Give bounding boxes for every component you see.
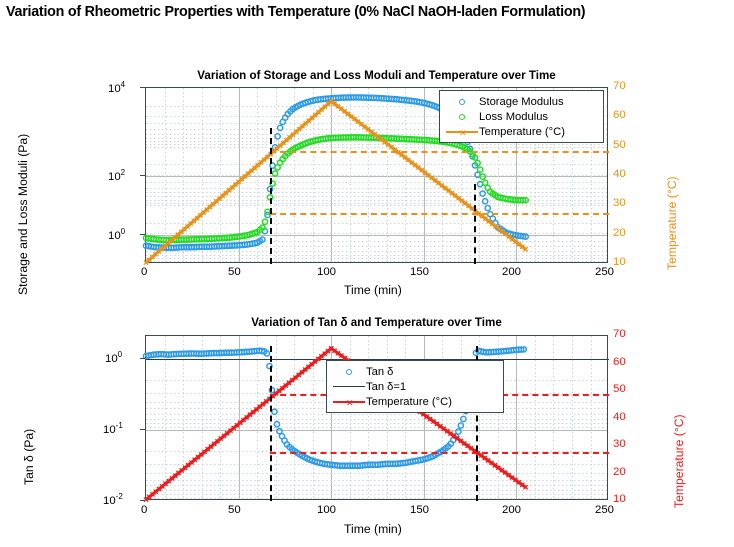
bottom-ytick-left-2: 10-2 xyxy=(103,492,123,507)
open-circle-icon xyxy=(445,114,479,120)
top-ytick-left-2: 104 xyxy=(108,80,125,95)
top-xtick-150: 150 xyxy=(410,266,429,278)
top-ylabel-left: Storage and Loss Moduli (Pa) xyxy=(16,134,30,295)
top-xtick-100: 100 xyxy=(317,266,336,278)
line-x-marker-icon: ✕ xyxy=(445,131,479,133)
top-ytick-right-20: 20 xyxy=(613,227,626,239)
bottom-legend[interactable]: Tan δ Tan δ=1 ✕ Temperature (°C) xyxy=(326,360,504,413)
bottom-ytick-right-50: 50 xyxy=(613,383,626,395)
bottom-ytick-right-70: 70 xyxy=(613,328,626,340)
top-vdash-177 xyxy=(474,184,476,264)
bottom-panel: Variation of Tan δ and Temperature over … xyxy=(0,300,734,547)
bottom-xlabel: Time (min) xyxy=(344,522,402,536)
top-ytick-right-50: 50 xyxy=(613,139,626,151)
top-xtick-0: 0 xyxy=(141,266,147,278)
legend-item-tan-delta[interactable]: Tan δ xyxy=(332,364,497,379)
top-xtick-200: 200 xyxy=(502,266,521,278)
legend-label: Storage Modulus xyxy=(479,96,564,108)
bottom-xtick-250: 250 xyxy=(595,504,614,516)
top-legend[interactable]: Storage Modulus Loss Modulus ✕ Temperatu… xyxy=(439,90,604,143)
legend-item-temperature[interactable]: ✕ Temperature (°C) xyxy=(332,394,497,409)
legend-item-tan-delta-one[interactable]: Tan δ=1 xyxy=(332,379,497,394)
bottom-ytick-left-1: 10-1 xyxy=(103,421,123,436)
bottom-ytick-right-20: 20 xyxy=(613,466,626,478)
solid-line-icon xyxy=(332,386,366,387)
legend-item-loss-modulus[interactable]: Loss Modulus xyxy=(445,109,597,124)
bottom-ylabel-right: Temperature (°C) xyxy=(672,414,686,508)
top-hdash-28c xyxy=(270,213,609,215)
bottom-panel-title: Variation of Tan δ and Temperature over … xyxy=(145,316,608,329)
bottom-xtick-150: 150 xyxy=(410,504,429,516)
top-ytick-right-60: 60 xyxy=(613,109,626,121)
bottom-hdash-28c xyxy=(270,452,609,454)
top-ytick-right-40: 40 xyxy=(613,168,626,180)
open-circle-icon xyxy=(332,369,366,375)
bottom-ytick-right-60: 60 xyxy=(613,356,626,368)
top-hdash-49c xyxy=(270,151,609,153)
open-circle-icon xyxy=(445,99,479,105)
figure-title: Variation of Rheometric Properties with … xyxy=(6,4,730,20)
legend-label: Tan δ=1 xyxy=(366,381,406,393)
top-ytick-right-30: 30 xyxy=(613,197,626,209)
legend-label: Loss Modulus xyxy=(479,111,548,123)
bottom-ytick-right-40: 40 xyxy=(613,411,626,423)
figure-root: Variation of Rheometric Properties with … xyxy=(0,0,734,547)
bottom-xtick-100: 100 xyxy=(317,504,336,516)
legend-item-storage-modulus[interactable]: Storage Modulus xyxy=(445,94,597,109)
bottom-ylabel-left: Tan δ (Pa) xyxy=(22,429,36,485)
legend-label: Temperature (°C) xyxy=(479,126,565,138)
legend-item-temperature[interactable]: ✕ Temperature (°C) xyxy=(445,124,597,139)
bottom-xtick-50: 50 xyxy=(228,504,241,516)
bottom-ytick-right-10: 10 xyxy=(613,493,626,505)
top-ytick-left-1: 102 xyxy=(108,168,125,183)
top-xtick-250: 250 xyxy=(595,266,614,278)
legend-label: Temperature (°C) xyxy=(366,396,452,408)
top-ytick-left-0: 100 xyxy=(108,227,125,242)
top-panel: Variation of Storage and Loss Moduli and… xyxy=(0,55,734,310)
bottom-xtick-0: 0 xyxy=(141,504,147,516)
top-ytick-right-10: 10 xyxy=(613,256,626,268)
top-plot-area: Storage Modulus Loss Modulus ✕ Temperatu… xyxy=(145,87,608,263)
top-panel-title: Variation of Storage and Loss Moduli and… xyxy=(145,69,608,82)
top-xlabel: Time (min) xyxy=(344,283,402,297)
bottom-plot-area: Tan δ Tan δ=1 ✕ Temperature (°C) xyxy=(145,335,608,500)
top-ytick-right-70: 70 xyxy=(613,80,626,92)
bottom-ytick-left-0: 100 xyxy=(105,350,122,365)
bottom-ytick-right-30: 30 xyxy=(613,438,626,450)
legend-label: Tan δ xyxy=(366,366,393,378)
top-vdash-67 xyxy=(270,128,272,264)
line-x-marker-icon: ✕ xyxy=(332,401,366,403)
top-xtick-50: 50 xyxy=(228,266,241,278)
bottom-xtick-200: 200 xyxy=(502,504,521,516)
bottom-vdash-67 xyxy=(270,346,272,501)
top-ylabel-right: Temperature (°C) xyxy=(665,176,679,270)
